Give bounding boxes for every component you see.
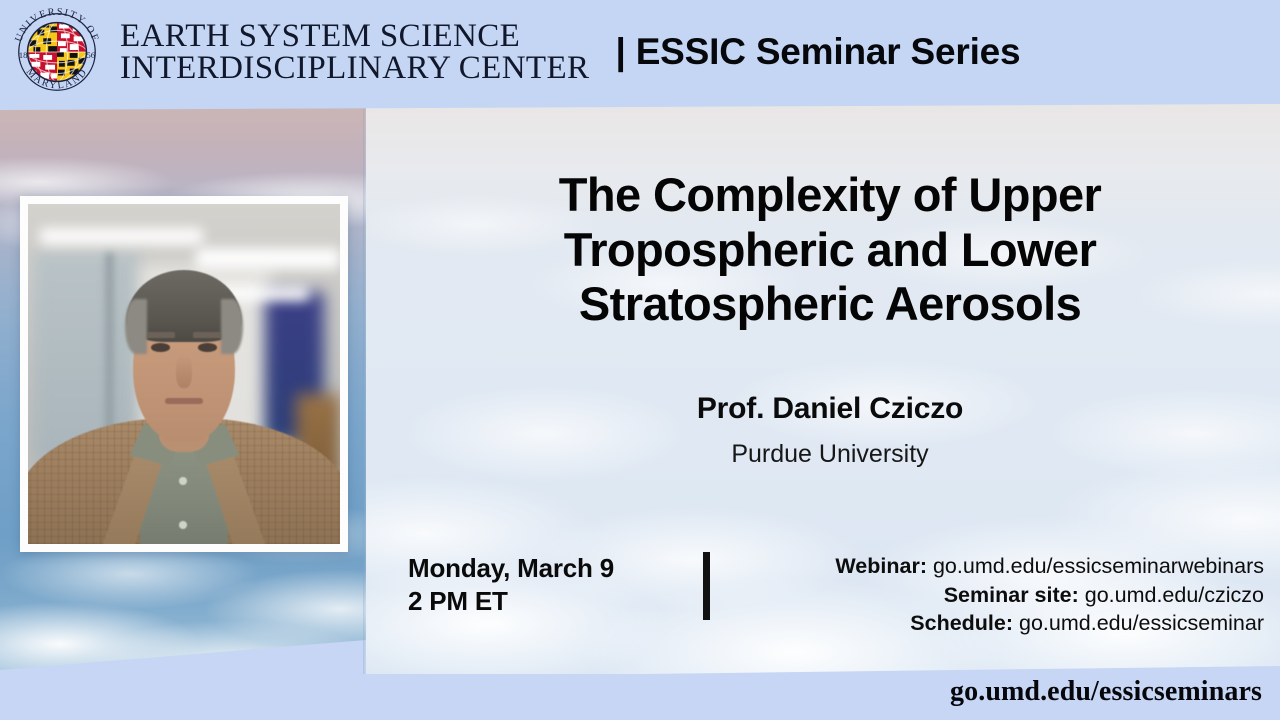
link-schedule-url[interactable]: go.umd.edu/essicseminar (1019, 611, 1264, 635)
event-time: 2 PM ET (408, 585, 688, 618)
link-webinar[interactable]: Webinar: go.umd.edu/essicseminarwebinars (740, 552, 1264, 581)
essic-wordmark-line2: INTERDISCIPLINARY CENTER (120, 52, 589, 84)
footer-url[interactable]: go.umd.edu/essicseminars (950, 676, 1262, 708)
umd-seal-icon: UNIVERSITY OF MARYLAND 18 56 (8, 3, 106, 101)
event-datetime: Monday, March 9 2 PM ET (408, 552, 688, 619)
essic-wordmark-line1: EARTH SYSTEM SCIENCE (120, 20, 589, 52)
link-schedule[interactable]: Schedule: go.umd.edu/essicseminar (740, 609, 1264, 638)
svg-text:56: 56 (86, 50, 95, 60)
panel-divider-seam (363, 104, 367, 674)
essic-wordmark: EARTH SYSTEM SCIENCE INTERDISCIPLINARY C… (120, 20, 589, 85)
link-seminar-site-url[interactable]: go.umd.edu/cziczo (1085, 583, 1264, 607)
link-webinar-label: Webinar: (835, 554, 927, 578)
speaker-portrait (28, 204, 340, 544)
speaker-photo-frame (20, 196, 348, 552)
link-schedule-label: Schedule: (910, 611, 1013, 635)
seminar-series-title: | ESSIC Seminar Series (615, 31, 1020, 73)
speaker-name: Prof. Daniel Cziczo (440, 392, 1220, 426)
link-seminar-site[interactable]: Seminar site: go.umd.edu/cziczo (740, 581, 1264, 610)
event-date: Monday, March 9 (408, 552, 688, 585)
header-content: UNIVERSITY OF MARYLAND 18 56 EARTH SYSTE… (0, 0, 1280, 104)
link-webinar-url[interactable]: go.umd.edu/essicseminarwebinars (933, 554, 1264, 578)
portrait-softening-overlay (28, 204, 340, 544)
link-seminar-site-label: Seminar site: (944, 583, 1079, 607)
vertical-divider (703, 552, 710, 620)
event-links: Webinar: go.umd.edu/essicseminarwebinars… (740, 552, 1264, 638)
svg-text:18: 18 (19, 50, 28, 60)
talk-title: The Complexity of Upper Tropospheric and… (440, 168, 1220, 332)
speaker-affiliation: Purdue University (440, 440, 1220, 469)
seminar-flyer: UNIVERSITY OF MARYLAND 18 56 EARTH SYSTE… (0, 0, 1280, 720)
